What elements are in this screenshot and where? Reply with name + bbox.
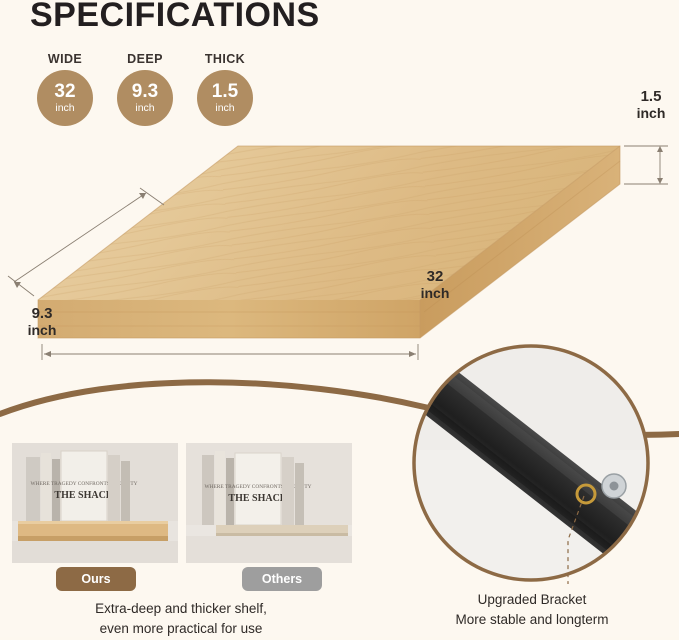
dimension-depth: 9.3 inch (10, 305, 74, 338)
comparison-panel: WHERE TRAGEDY CONFRONTS ETERNITY THE SHA… (6, 443, 356, 637)
dimension-length-unit: inch (400, 285, 470, 301)
dimension-depth-value: 9.3 (32, 305, 53, 322)
bracket-caption-line2: More stable and longterm (396, 610, 668, 630)
shelf-illustration: 1.5 inch 32 inch 9.3 inch (0, 60, 679, 370)
photo-others: WHERE TRAGEDY CONFRONTS ETERNITY THE SHA… (186, 443, 352, 563)
photo-ours-svg: WHERE TRAGEDY CONFRONTS ETERNITY THE SHA… (12, 443, 178, 563)
tag-ours: Ours (56, 567, 136, 591)
bracket-caption: Upgraded Bracket More stable and longter… (396, 590, 668, 631)
shelf-svg (0, 60, 679, 370)
page-title: SPECIFICATIONS (30, 0, 320, 35)
comparison-caption-line2: even more practical for use (6, 619, 356, 639)
comparison-caption-line1: Extra-deep and thicker shelf, (6, 599, 356, 619)
svg-text:THE SHACK: THE SHACK (54, 490, 113, 501)
dimension-length: 32 inch (400, 268, 470, 301)
product-infographic: SPECIFICATIONS WIDE 32 inch DEEP 9.3 inc… (0, 0, 679, 637)
tag-others: Others (242, 567, 322, 591)
bracket-detail-svg (408, 340, 654, 586)
dimension-depth-unit: inch (10, 322, 74, 338)
comparison-caption: Extra-deep and thicker shelf, even more … (6, 599, 356, 640)
photo-ours: WHERE TRAGEDY CONFRONTS ETERNITY THE SHA… (12, 443, 178, 563)
dimension-thickness-unit: inch (628, 105, 674, 121)
dimension-length-value: 32 (427, 268, 444, 285)
dimension-thickness-value: 1.5 (641, 88, 662, 105)
bracket-detail (408, 340, 654, 586)
photo-others-svg: WHERE TRAGEDY CONFRONTS ETERNITY THE SHA… (186, 443, 352, 563)
bracket-caption-line1: Upgraded Bracket (396, 590, 668, 610)
svg-text:THE SHACK: THE SHACK (228, 493, 287, 504)
dimension-thickness: 1.5 inch (628, 88, 674, 121)
